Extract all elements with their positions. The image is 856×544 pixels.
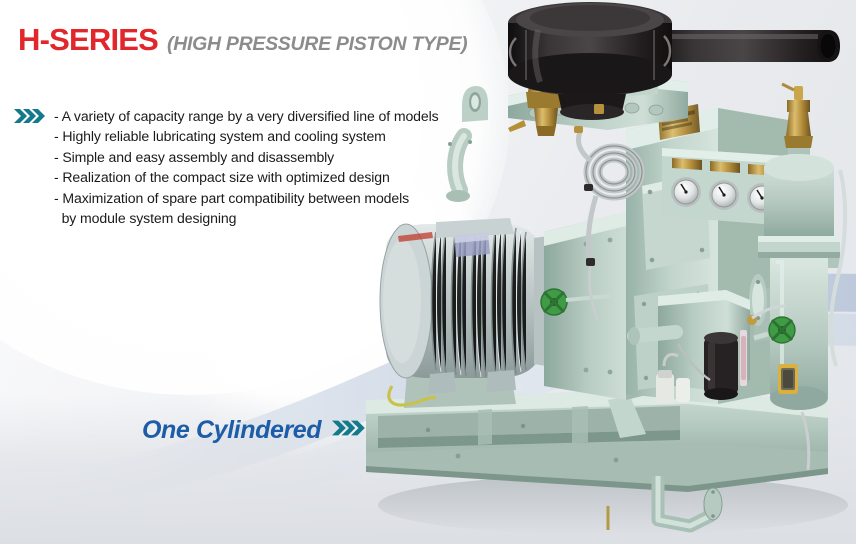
valve-handwheel-motor-side [541,289,567,315]
valve-handwheel [769,317,795,343]
page-title: H-SERIES (HIGH PRESSURE PISTON TYPE) [18,24,467,55]
list-item: - Realization of the compact size with o… [54,167,439,187]
list-item: - Simple and easy assembly and disassemb… [54,147,439,167]
product-brochure-page: H-SERIES (HIGH PRESSURE PISTON TYPE) - A… [0,0,856,544]
title-main: H-SERIES [18,24,158,55]
intercooler-pipe [446,136,472,202]
triple-chevron-right-icon [332,420,368,441]
lubricator-sight-column [740,330,747,386]
pressure-gauge [671,177,701,207]
list-item: by module system designing [54,208,439,228]
pressure-gauge [709,180,739,210]
feature-list-lines: - A variety of capacity range by a very … [54,106,439,228]
product-caption: One Cylindered [142,418,368,443]
product-photo-compressor [358,0,856,544]
list-item: - A variety of capacity range by a very … [54,106,439,126]
oil-filter-canister [704,332,738,400]
sight-glass [778,364,798,394]
cooler-box [436,200,528,278]
tank-relief-valve [782,84,813,148]
list-item: - Highly reliable lubricating system and… [54,126,439,146]
title-subtitle: (HIGH PRESSURE PISTON TYPE) [167,35,467,55]
list-item: - Maximization of spare part compatibili… [54,188,439,208]
triple-chevron-right-icon [14,109,48,123]
lifting-eye-secondary [462,86,488,122]
caption-label: One Cylindered [142,418,321,443]
feature-list: - A variety of capacity range by a very … [14,106,439,228]
air-intake-tube [646,30,840,62]
